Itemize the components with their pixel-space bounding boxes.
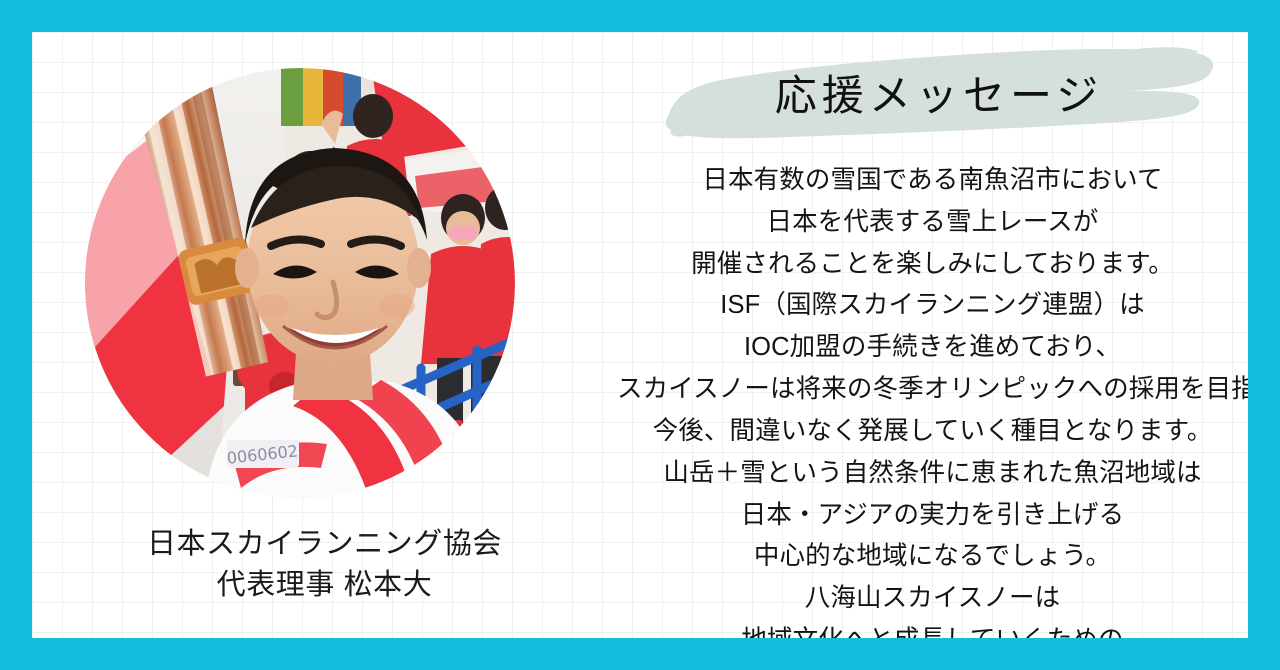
message-line: スカイスノーは将来の冬季オリンピックへの採用を目指し bbox=[617, 369, 1248, 411]
caption-line: 代表理事 松本大 bbox=[32, 565, 617, 606]
grid-paper-background: 0060602 bbox=[32, 32, 1248, 638]
message-line: 中心的な地域になるでしょう。 bbox=[617, 536, 1248, 578]
message-line: 日本・アジアの実力を引き上げる bbox=[617, 495, 1248, 537]
message-line: 日本を代表する雪上レースが bbox=[617, 202, 1248, 244]
torchbearer-portrait-photo: 0060602 bbox=[85, 68, 515, 498]
message-line: ISF（国際スカイランニング連盟）は bbox=[617, 285, 1248, 327]
message-line: 山岳＋雪という自然条件に恵まれた魚沼地域は bbox=[617, 453, 1248, 495]
message-column: 応援メッセージ 日本有数の雪国である南魚沼市において 日本を代表する雪上レースが… bbox=[617, 32, 1248, 638]
message-line: 地域文化へと成長していくための bbox=[617, 620, 1248, 638]
message-line: 日本有数の雪国である南魚沼市において bbox=[617, 160, 1248, 202]
message-line: 今後、間違いなく発展していく種目となります。 bbox=[617, 411, 1248, 453]
page-title: 応援メッセージ bbox=[659, 44, 1219, 149]
title-block: 応援メッセージ bbox=[659, 44, 1219, 149]
message-line: 八海山スカイスノーは bbox=[617, 578, 1248, 620]
message-body: 日本有数の雪国である南魚沼市において 日本を代表する雪上レースが 開催されること… bbox=[617, 160, 1248, 638]
caption-line: 日本スカイランニング協会 bbox=[32, 524, 617, 565]
message-line: IOC加盟の手続きを進めており、 bbox=[617, 327, 1248, 369]
message-line: 開催されることを楽しみにしております。 bbox=[617, 244, 1248, 286]
page-frame: 0060602 bbox=[0, 0, 1280, 670]
photo-caption: 日本スカイランニング協会 代表理事 松本大 bbox=[32, 524, 617, 606]
photo-column: 0060602 bbox=[32, 32, 617, 638]
